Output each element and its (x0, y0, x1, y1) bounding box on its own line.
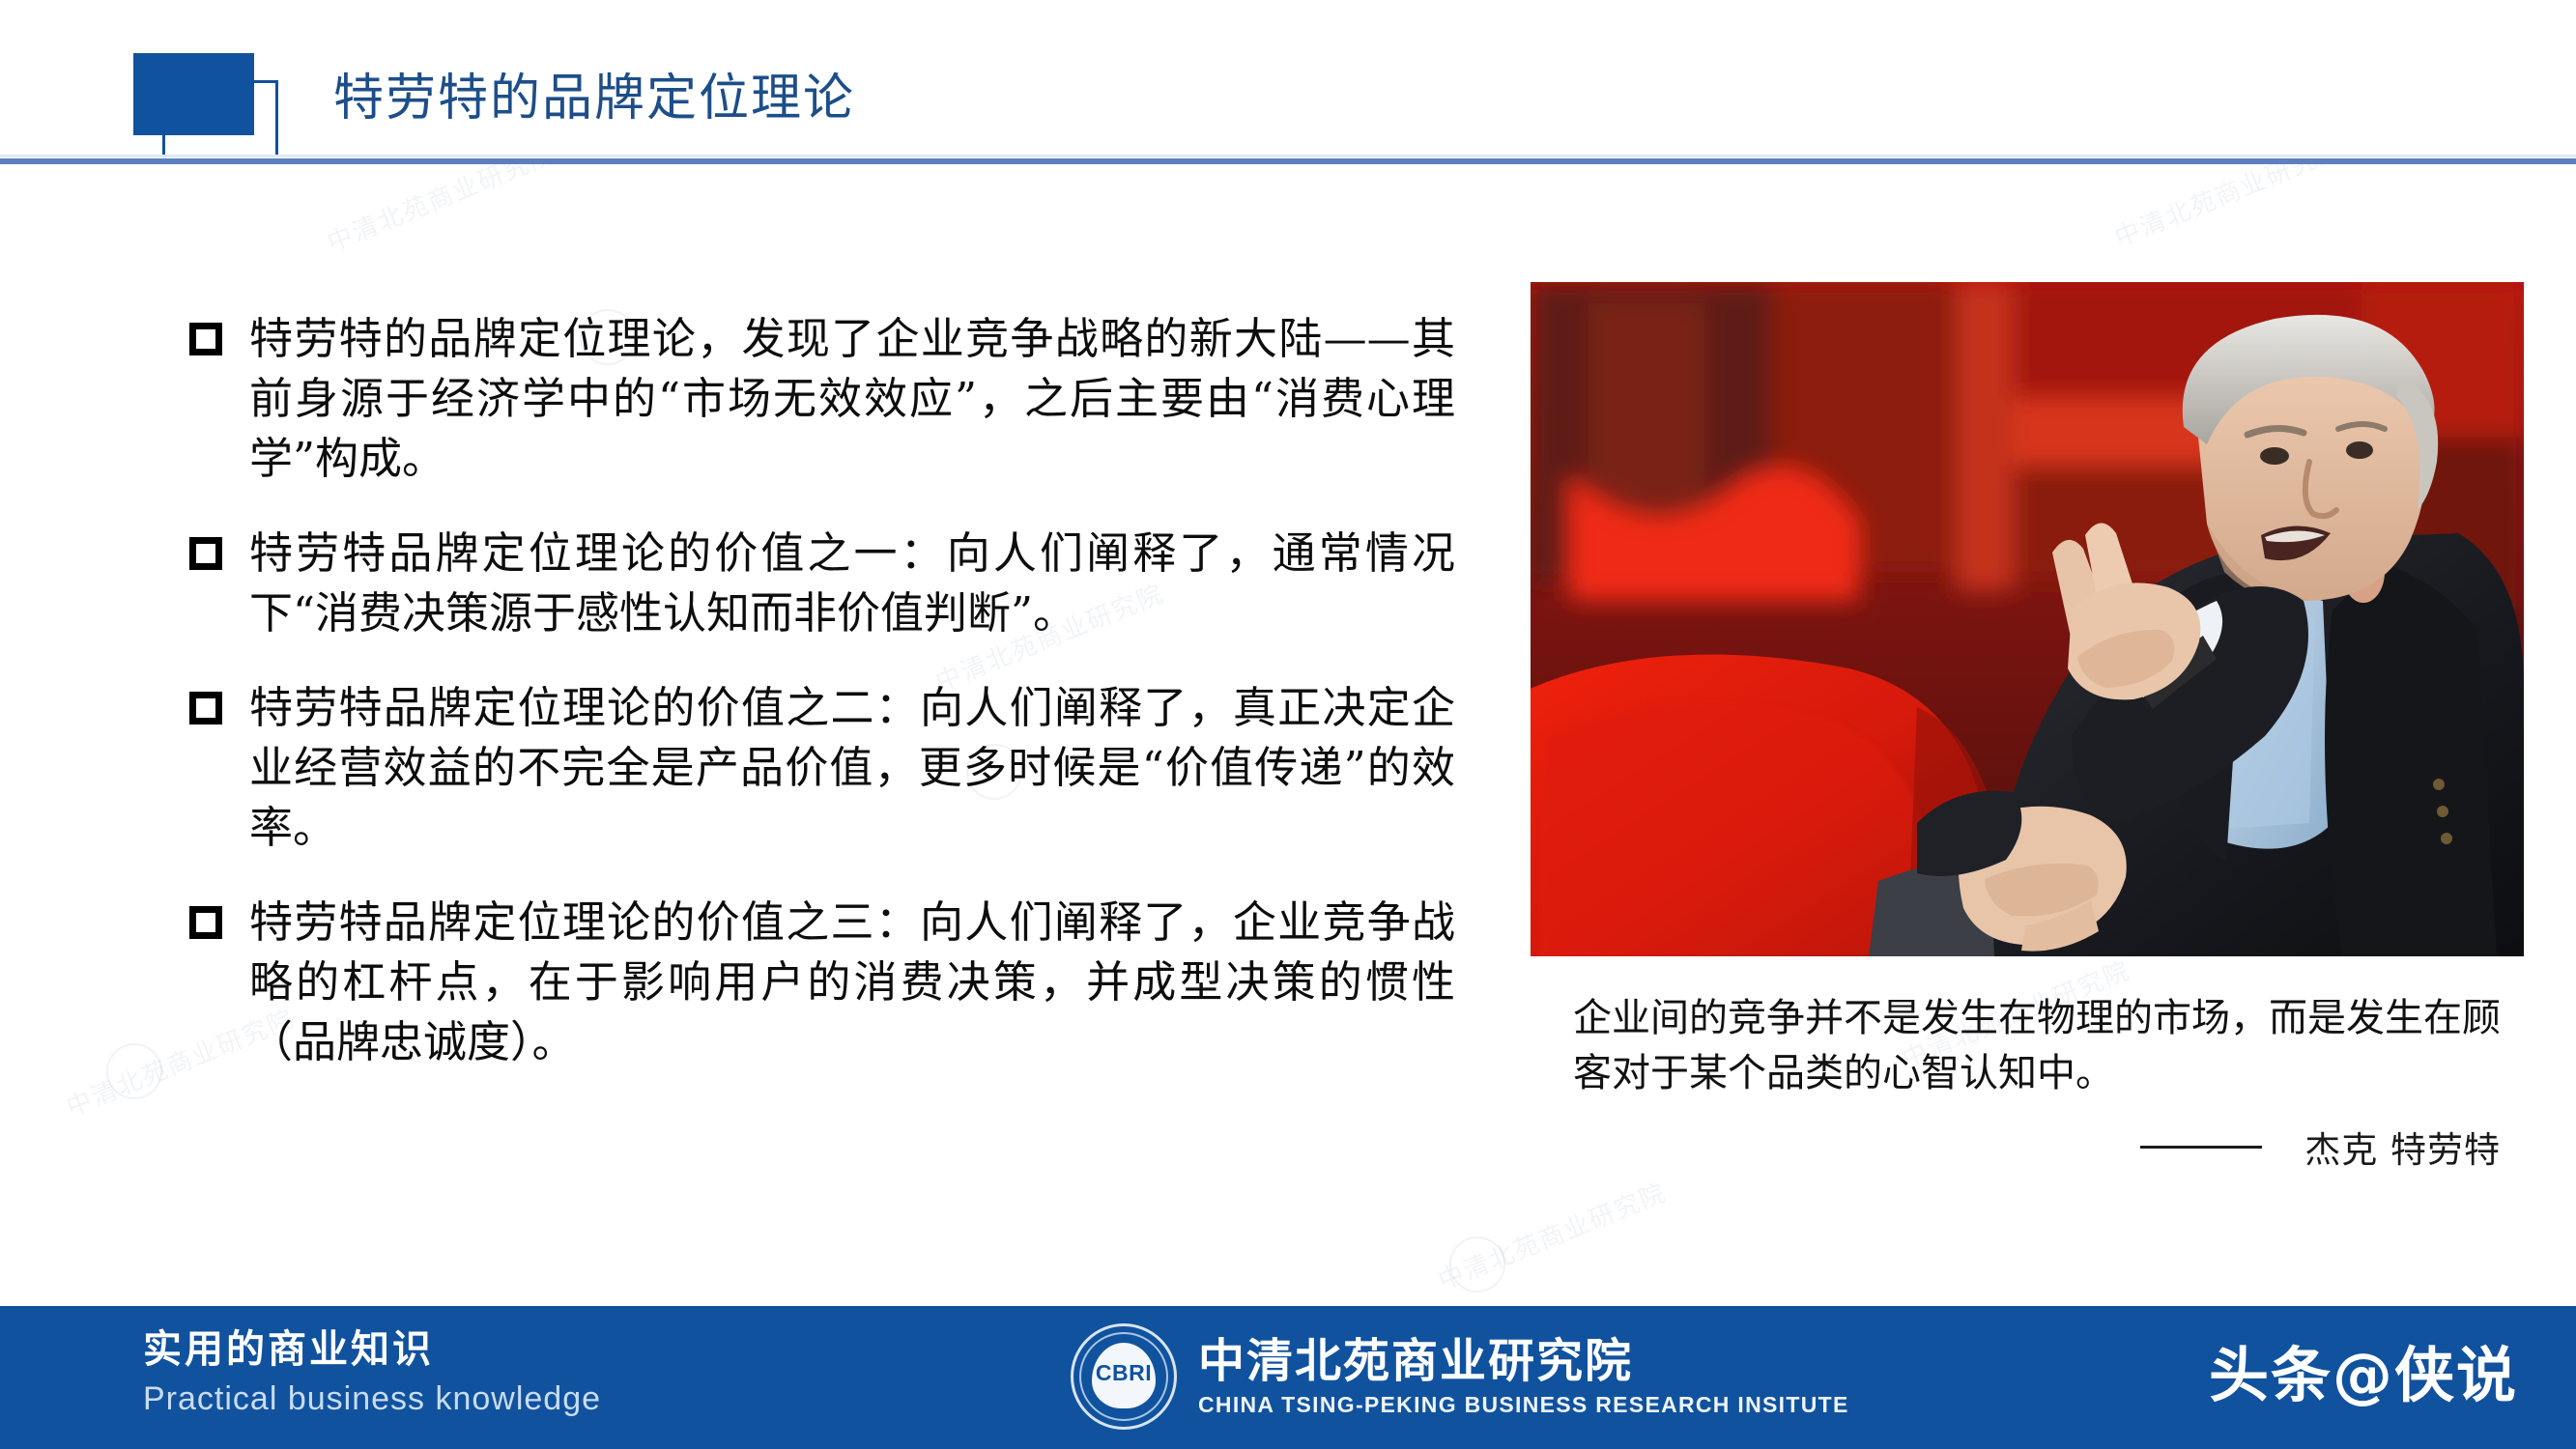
header-divider (0, 158, 2576, 164)
slide-header: 特劳特的品牌定位理论 (0, 0, 2576, 162)
footer-channel-label: 头条@侠说 (2209, 1327, 2518, 1424)
hollow-square-bullet-icon (189, 537, 222, 570)
page-title: 特劳特的品牌定位理论 (333, 50, 855, 147)
slide-footer: 实用的商业知识 Practical business knowledge CBR… (0, 1306, 2576, 1449)
list-item: 特劳特品牌定位理论的价值之三：向人们阐释了，企业竞争战略的杠杆点，在于影响用户的… (189, 893, 1455, 1072)
logo-filled-square (133, 53, 254, 135)
bullet-text: 特劳特品牌定位理论的价值之一：向人们阐释了，通常情况下“消费决策源于感性认知而非… (249, 524, 1455, 643)
hollow-square-bullet-icon (189, 906, 222, 939)
double-square-logo-icon (133, 53, 278, 150)
watermark-ring-icon (106, 1043, 162, 1099)
footer-brand-cn: 中清北苑商业研究院 (1198, 1333, 1849, 1389)
hollow-square-bullet-icon (189, 323, 222, 355)
footer-brand-en: CHINA TSING-PEKING BUSINESS RESEARCH INS… (1198, 1389, 1849, 1420)
footer-brand-text: 中清北苑商业研究院 CHINA TSING-PEKING BUSINESS RE… (1198, 1333, 1849, 1420)
quote-attribution: 杰克 特劳特 (1573, 1121, 2501, 1173)
list-item: 特劳特的品牌定位理论，发现了企业竞争战略的新大陆——其前身源于经济学中的“市场无… (189, 309, 1455, 489)
bullet-list: 特劳特的品牌定位理论，发现了企业竞争战略的新大陆——其前身源于经济学中的“市场无… (189, 309, 1455, 1107)
speaker-photo (1531, 282, 2524, 956)
watermark: 中清北苑商业研究院 (1432, 1173, 1672, 1297)
cbri-seal-icon: CBRI (1071, 1323, 1177, 1430)
footer-tagline-cn: 实用的商业知识 (143, 1323, 601, 1376)
header-divider-highlight (0, 155, 2576, 157)
list-item: 特劳特品牌定位理论的价值之一：向人们阐释了，通常情况下“消费决策源于感性认知而非… (189, 524, 1455, 643)
hollow-square-bullet-icon (189, 692, 222, 724)
list-item: 特劳特品牌定位理论的价值之二：向人们阐释了，真正决定企业经营效益的不完全是产品价… (189, 678, 1455, 858)
watermark-ring-icon (1449, 1236, 1505, 1293)
footer-left-block: 实用的商业知识 Practical business knowledge (143, 1323, 601, 1422)
slide-root: 中清北苑商业研究院 中清北苑商业研究院 中清北苑商业研究院 中清北苑商业研究院 … (0, 0, 2576, 1449)
attribution-dash-icon (2140, 1146, 2262, 1149)
footer-brand-block: CBRI 中清北苑商业研究院 CHINA TSING-PEKING BUSINE… (1071, 1323, 1849, 1430)
seal-label: CBRI (1071, 1360, 1177, 1386)
speaker-photo-image (1531, 282, 2524, 956)
footer-tagline-en: Practical business knowledge (143, 1376, 601, 1422)
attribution-author: 杰克 特劳特 (2304, 1121, 2501, 1173)
bullet-text: 特劳特品牌定位理论的价值之三：向人们阐释了，企业竞争战略的杠杆点，在于影响用户的… (249, 893, 1455, 1072)
bullet-text: 特劳特品牌定位理论的价值之二：向人们阐释了，真正决定企业经营效益的不完全是产品价… (249, 678, 1455, 858)
bullet-text: 特劳特的品牌定位理论，发现了企业竞争战略的新大陆——其前身源于经济学中的“市场无… (249, 309, 1455, 489)
quote-text: 企业间的竞争并不是发生在物理的市场，而是发生在顾客对于某个品类的心智认知中。 (1573, 991, 2501, 1101)
